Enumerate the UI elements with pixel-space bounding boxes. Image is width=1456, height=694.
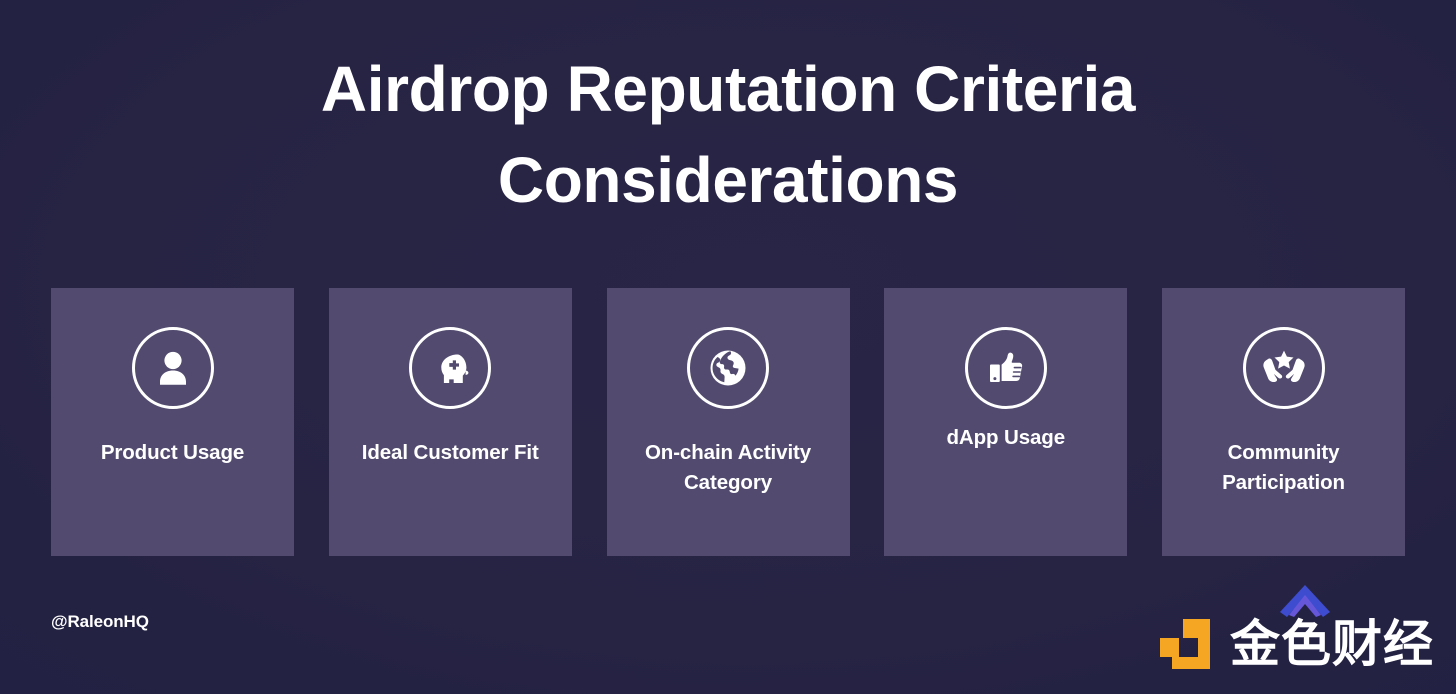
thumbs-up-icon (965, 327, 1047, 409)
hands-holding-star-icon (1243, 327, 1325, 409)
social-handle: @RaleonHQ (51, 612, 149, 632)
globe-icon (687, 327, 769, 409)
criteria-card-onchain-activity[interactable]: On-chain Activity Category (607, 288, 850, 556)
logo-square-small (1160, 638, 1179, 657)
watermark-brand-text: 金色财经 (1230, 619, 1434, 669)
chevron-up-icon (1278, 584, 1332, 618)
criteria-card-label: Ideal Customer Fit (339, 438, 562, 468)
criteria-card-community-participation[interactable]: Community Participation (1162, 288, 1405, 556)
jinse-logo-mark-icon (1160, 616, 1218, 672)
criteria-card-dapp-usage[interactable]: dApp Usage (884, 288, 1127, 556)
criteria-card-label: Product Usage (61, 438, 284, 468)
logo-square-top (1183, 619, 1202, 638)
criteria-card-label: On-chain Activity Category (617, 438, 840, 499)
criteria-card-row: Product Usage Ideal Customer Fit (51, 288, 1405, 556)
criteria-card-label: Community Participation (1172, 438, 1395, 499)
user-person-icon (132, 327, 214, 409)
criteria-card-ideal-customer-fit[interactable]: Ideal Customer Fit (329, 288, 572, 556)
title-line-1: Airdrop Reputation Criteria (130, 44, 1326, 135)
criteria-card-product-usage[interactable]: Product Usage (51, 288, 294, 556)
criteria-card-label: dApp Usage (894, 423, 1117, 453)
head-puzzle-icon (409, 327, 491, 409)
page-title: Airdrop Reputation Criteria Consideratio… (0, 44, 1456, 226)
watermark-logo: 金色财经 (1160, 608, 1434, 680)
title-line-2: Considerations (130, 135, 1326, 226)
slide-canvas: Airdrop Reputation Criteria Consideratio… (0, 0, 1456, 694)
